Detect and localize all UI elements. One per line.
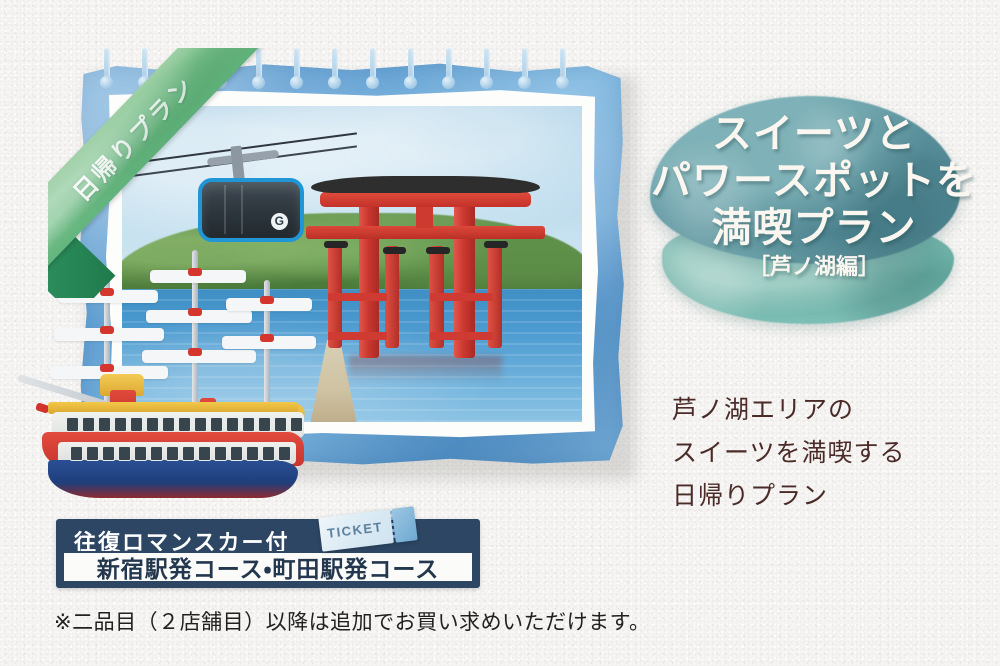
title-line-3: 満喫プラン — [712, 206, 917, 251]
torii-brace-2 — [328, 332, 388, 340]
torii-shimaki-beam — [320, 192, 530, 207]
spiral-binding — [78, 48, 638, 102]
torii-gakuzuka — [416, 205, 433, 229]
pirate-ship-icon — [14, 368, 324, 513]
ship-yard-knob — [188, 268, 202, 276]
torii-prop-cap-2 — [383, 247, 407, 254]
ship-yard-knob — [260, 296, 274, 304]
ropeway-gondola-icon: G — [122, 125, 334, 258]
ropeway-cabin: G — [198, 178, 303, 242]
ship-yard-knob — [188, 308, 202, 316]
spiral-ring — [138, 48, 151, 94]
torii-brace-1 — [328, 293, 388, 301]
spiral-ring — [366, 48, 379, 94]
description-text: 芦ノ湖エリアの スイーツを満喫する 日帰りプラン — [672, 388, 992, 517]
title-line-1: スイーツと — [712, 112, 916, 157]
description-line-3: 日帰りプラン — [672, 474, 992, 517]
spiral-ring — [176, 48, 189, 94]
ship-yard-knob — [100, 326, 114, 334]
title-text-group: スイーツと パワースポットを 満喫プラン ［芦ノ湖編］ — [628, 96, 1000, 326]
spiral-ring — [252, 48, 265, 94]
footnote-text: ※二品目（２店舗目）以降は追加でお買い求めいただけます。 — [54, 606, 651, 636]
spiral-ring — [290, 48, 303, 94]
torii-prop-cap-3 — [426, 247, 450, 254]
torii-brace-4 — [430, 332, 492, 340]
torii-prop-cap-4 — [484, 241, 508, 248]
ship-yard-knob — [100, 288, 114, 296]
torii-kasagi-top — [311, 176, 541, 194]
gondola-logo-icon: G — [271, 213, 288, 230]
spiral-ring — [556, 48, 569, 94]
torii-reflection — [349, 356, 502, 383]
torii-brace-3 — [430, 293, 492, 301]
ropeway-hanger — [230, 146, 244, 181]
spiral-ring — [518, 48, 531, 94]
ship-yard-knob — [100, 364, 114, 372]
spiral-ring — [404, 48, 417, 94]
description-line-1: 芦ノ湖エリアの — [672, 388, 992, 431]
ship-window-row — [70, 446, 291, 461]
spiral-ring — [100, 48, 113, 94]
cabin-seam-1 — [224, 185, 226, 234]
spiral-ring — [214, 48, 227, 94]
torii-prop-2 — [385, 246, 399, 348]
ship-window-row — [66, 417, 303, 432]
title-subtitle: ［芦ノ湖編］ — [748, 256, 880, 281]
spiral-ring — [328, 48, 341, 94]
cabin-seam-2 — [241, 185, 243, 234]
ship-yard-knob — [188, 348, 202, 356]
banner-course-label: 新宿駅発コース・町田駅発コース — [62, 551, 474, 583]
ticket-stub — [392, 506, 418, 542]
title-block: スイーツと パワースポットを 満喫プラン ［芦ノ湖編］ — [628, 96, 1000, 326]
title-line-2: パワースポットを — [651, 159, 977, 204]
description-line-2: スイーツを満喫する — [672, 431, 992, 474]
spiral-ring — [442, 48, 455, 94]
ship-hull — [48, 460, 298, 498]
torii-gate-icon — [306, 176, 545, 372]
spiral-ring — [480, 48, 493, 94]
ship-yard-knob — [260, 334, 274, 342]
